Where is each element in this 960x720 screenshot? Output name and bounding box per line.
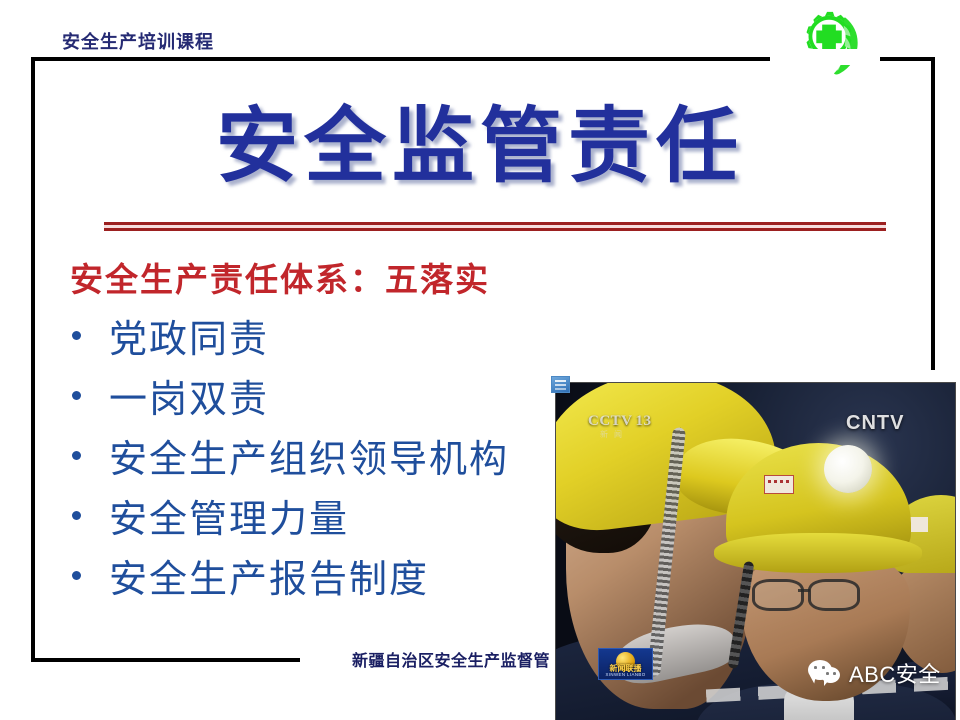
bullet-dot-icon: [72, 331, 81, 340]
title-divider: [104, 222, 886, 231]
bullet-text: 安全管理力量: [109, 488, 349, 543]
photo-person-center-helmet-tag: [764, 475, 794, 494]
image-selection-handle[interactable]: [551, 376, 570, 393]
cntv-watermark: CNTV: [846, 412, 904, 435]
bullet-dot-icon: [72, 571, 81, 580]
photo-glasses-right-lens: [808, 579, 860, 611]
bullet-dot-icon: [72, 391, 81, 400]
slide-subtitle: 安全生产责任体系：五落实: [70, 253, 490, 301]
photo-helmet-lamp-icon: [824, 445, 872, 493]
bullet-list: 党政同责 一岗双责 安全生产组织领导机构 安全管理力量 安全生产报告制度: [68, 305, 588, 605]
list-item: 安全生产报告制度: [68, 545, 588, 605]
slide-header-title: 安全生产培训课程: [62, 28, 214, 54]
list-item: 党政同责: [68, 305, 588, 365]
presentation-slide: 安全生产培训课程 安: [0, 0, 960, 720]
list-item: 一岗双责: [68, 365, 588, 425]
bullet-text: 党政同责: [109, 308, 269, 363]
bullet-dot-icon: [72, 451, 81, 460]
wechat-account-name: ABC安全: [849, 657, 941, 689]
slide-main-title: 安全监管责任: [216, 103, 744, 192]
photo-glasses-bridge: [798, 589, 810, 592]
cctv-channel-number: 13: [636, 413, 652, 430]
bullet-text: 安全生产报告制度: [109, 548, 429, 603]
bullet-text: 一岗双责: [109, 368, 269, 423]
bullet-text: 安全生产组织领导机构: [109, 428, 509, 483]
cctv-channel-watermark: CCTV13: [588, 413, 652, 430]
slide-title-container: 安全监管责任: [0, 103, 960, 192]
wechat-icon: [808, 660, 842, 686]
cctv-logo-text: CCTV: [588, 413, 633, 429]
photo-glasses-left-lens: [752, 579, 804, 611]
cctv-subtitle-text: 新 闻: [600, 429, 624, 440]
wechat-watermark: ABC安全: [808, 657, 941, 689]
xinwen-lianbo-badge: 新闻联播 XINWEN LIANBO: [598, 648, 653, 680]
bullet-dot-icon: [72, 511, 81, 520]
list-item: 安全管理力量: [68, 485, 588, 545]
slide-footer-text: 新疆自治区安全生产监督管: [352, 647, 550, 671]
xinwen-lianbo-label-en: XINWEN LIANBO: [599, 672, 652, 677]
divider-line-bottom: [104, 228, 886, 231]
list-item: 安全生产组织领导机构: [68, 425, 588, 485]
frame-gap-top: [770, 49, 880, 65]
